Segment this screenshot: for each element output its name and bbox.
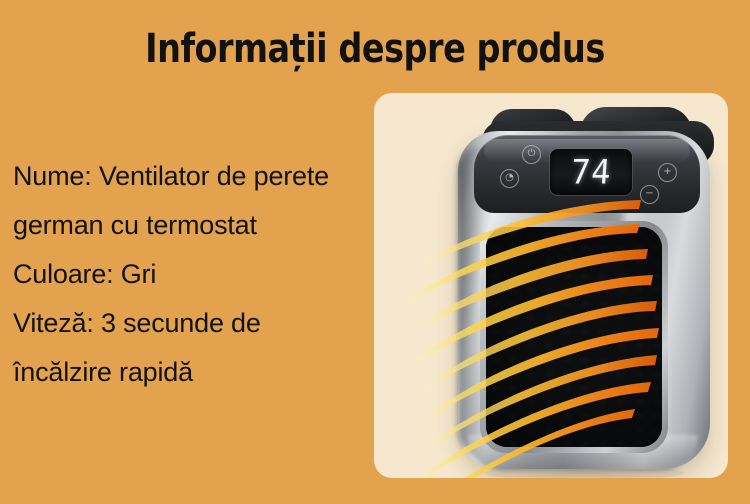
page-title: Informații despre produs (26, 26, 724, 72)
power-icon[interactable]: ⏻ (522, 145, 541, 164)
product-heater-image: ⏻ ◔ 74 + − (452, 105, 728, 478)
temperature-display: 74 (550, 149, 632, 195)
heater-control-panel: ⏻ ◔ 74 + − (474, 135, 700, 213)
spec-line-3: Culoare: Gri (13, 250, 393, 299)
heater-grille-frame (480, 221, 668, 453)
spec-line-1: Nume: Ventilator de perete (13, 152, 393, 201)
temperature-value: 74 (570, 155, 613, 189)
heater-grille (486, 227, 662, 447)
minus-icon[interactable]: − (640, 185, 659, 204)
spec-line-5: încălzire rapidă (13, 348, 393, 397)
spec-line-2: german cu termostat (13, 201, 393, 250)
spec-line-4: Viteză: 3 secunde de (13, 299, 393, 348)
plus-icon[interactable]: + (658, 163, 677, 182)
product-image-card: ⏻ ◔ 74 + − (374, 93, 728, 478)
product-info-banner: Informații despre produs Nume: Ventilato… (0, 0, 750, 504)
grille-vignette (486, 227, 662, 447)
product-spec-list: Nume: Ventilator de perete german cu ter… (13, 152, 393, 397)
timer-icon[interactable]: ◔ (500, 169, 519, 188)
